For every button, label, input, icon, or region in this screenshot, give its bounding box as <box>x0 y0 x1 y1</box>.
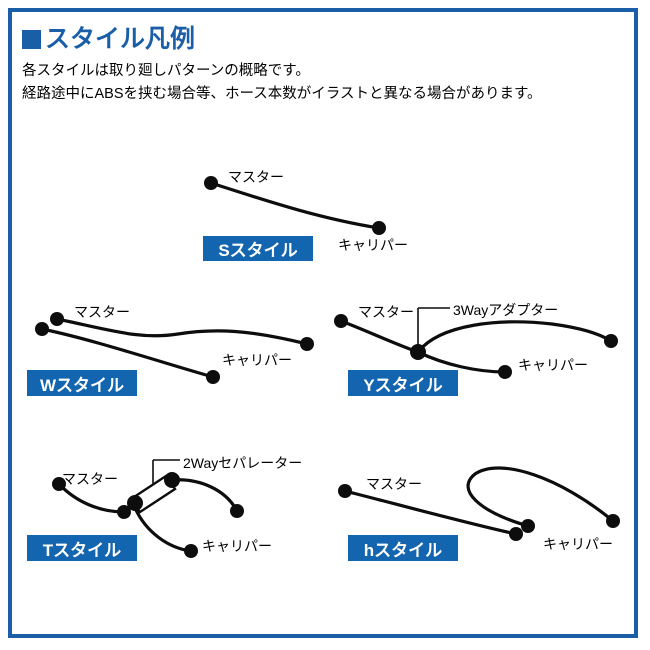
master-node-upper <box>50 312 64 326</box>
hose-upper <box>57 319 307 344</box>
hose-master-to-junction <box>59 484 124 512</box>
caliper-node-lower <box>498 365 512 379</box>
hose-adapter-upper-loop <box>418 322 611 352</box>
style-badge-s-style[interactable]: Sスタイル <box>203 236 313 261</box>
t-style-two-way-separator-label: 2Wayセパレーター <box>183 456 302 470</box>
style-badge-y-style[interactable]: Yスタイル <box>348 370 458 396</box>
t-style-master-label: マスター <box>62 472 118 486</box>
y-style-three-way-adapter-label: 3Wayアダプター <box>453 303 558 317</box>
hose-master-to-adapter <box>341 321 418 352</box>
caliper-node-right <box>230 504 244 518</box>
w-style-master-label: マスター <box>74 305 130 319</box>
hose-adapter-to-caliper <box>418 352 505 372</box>
caliper-node-lower <box>184 544 198 558</box>
hose-junction-to-caliper-lower <box>135 508 191 551</box>
caliper-node-right <box>300 337 314 351</box>
style-diagram-area: SスタイルマスターキャリパーWスタイルマスターキャリパーYスタイルマスター3Wa… <box>0 0 650 650</box>
s-style-caliper-label: キャリパー <box>338 238 408 252</box>
style-legend-page: スタイル凡例 各スタイルは取り廻しパターンの概略です。 経路途中にABSを挟む場… <box>0 0 650 650</box>
y-style-caliper-label: キャリパー <box>518 358 588 372</box>
style-badge-w-style[interactable]: Wスタイル <box>27 370 137 396</box>
s-style-master-label: マスター <box>228 170 284 184</box>
h-style-caliper-label: キャリパー <box>543 537 613 551</box>
hose-master-to-caliper <box>211 183 379 228</box>
caliper-node-lower <box>509 527 523 541</box>
three-way-adapter-node <box>410 344 426 360</box>
t-style-caliper-label: キャリパー <box>202 539 272 553</box>
separator-node-left <box>127 495 143 511</box>
master-node-lower <box>35 322 49 336</box>
caliper-node-lower <box>206 370 220 384</box>
y-style-master-label: マスター <box>358 305 414 319</box>
caliper-node <box>372 221 386 235</box>
separator-node-right <box>164 472 180 488</box>
caliper-node-right <box>606 514 620 528</box>
hose-separator-to-caliper <box>172 480 237 511</box>
hose-loop-over-to-caliper <box>468 468 613 526</box>
caliper-node-right <box>604 334 618 348</box>
master-node <box>334 314 348 328</box>
caliper-node-mid <box>521 519 535 533</box>
master-node <box>338 484 352 498</box>
master-node <box>204 176 218 190</box>
h-style-master-label: マスター <box>366 477 422 491</box>
style-badge-h-style[interactable]: hスタイル <box>348 535 458 561</box>
w-style-caliper-label: キャリパー <box>222 353 292 367</box>
style-badge-t-style[interactable]: Tスタイル <box>27 535 137 561</box>
